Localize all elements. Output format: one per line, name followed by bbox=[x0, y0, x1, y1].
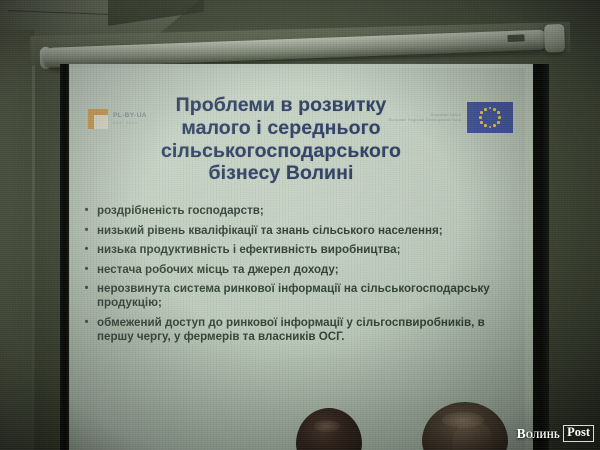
eu-star-icon bbox=[479, 116, 482, 119]
bullet-item: •низька продуктивність і ефективність ви… bbox=[82, 243, 517, 257]
slide-title: Проблеми в розвитку малого і середнього … bbox=[116, 94, 446, 185]
bullet-text: обмежений доступ до ринкової інформації … bbox=[97, 316, 517, 344]
eu-star-icon bbox=[480, 111, 483, 114]
bullet-item: •низький рівень кваліфікації та знань сі… bbox=[82, 224, 517, 238]
wall-corner-edge bbox=[32, 36, 35, 450]
bullet-marker-icon: • bbox=[82, 263, 91, 277]
bullet-text: низька продуктивність і ефективність вир… bbox=[97, 243, 517, 257]
watermark-brand: Волинь bbox=[517, 426, 560, 442]
bullet-marker-icon: • bbox=[82, 224, 91, 238]
eu-star-icon bbox=[480, 121, 483, 124]
eu-star-icon bbox=[493, 108, 496, 111]
eu-star-icon bbox=[484, 108, 487, 111]
screen-border-right bbox=[533, 64, 549, 450]
bullet-text: роздрібненість господарств; bbox=[97, 204, 517, 218]
bullet-item: •роздрібненість господарств; bbox=[82, 204, 517, 218]
photograph-frame: PL-BY-UA 2007 2013 European Union Europe… bbox=[0, 0, 600, 450]
eu-star-icon bbox=[493, 124, 496, 127]
bullet-item: •нестача робочих місць та джерел доходу; bbox=[82, 263, 517, 277]
slide-title-line-4: бізнесу Волині bbox=[116, 162, 446, 185]
eu-flag-icon bbox=[467, 102, 513, 133]
slide-title-line-1: Проблеми в розвитку bbox=[116, 94, 446, 117]
pl-by-ua-mark-icon bbox=[88, 109, 108, 129]
hair-highlight bbox=[314, 420, 340, 432]
bullet-marker-icon: • bbox=[82, 316, 91, 344]
eu-star-icon bbox=[484, 124, 487, 127]
bullet-text: нерозвинута система ринкової інформації … bbox=[97, 282, 517, 310]
watermark-suffix: Post bbox=[563, 425, 594, 442]
bullet-marker-icon: • bbox=[82, 282, 91, 310]
roller-brand-label bbox=[507, 34, 524, 42]
eu-star-icon bbox=[497, 121, 500, 124]
slide-title-line-2: малого і середнього bbox=[116, 117, 446, 140]
eu-star-icon bbox=[497, 111, 500, 114]
left-wall-panel bbox=[0, 30, 34, 450]
eu-star-icon bbox=[498, 116, 501, 119]
bullet-item: •обмежений доступ до ринкової інформації… bbox=[82, 316, 517, 344]
roller-right-end-cap bbox=[544, 24, 565, 53]
bullet-text: нестача робочих місць та джерел доходу; bbox=[97, 263, 517, 277]
slide-title-line-3: сільськогосподарського bbox=[116, 140, 446, 163]
eu-star-icon bbox=[489, 107, 492, 110]
watermark: Волинь Post bbox=[517, 425, 594, 442]
bullet-marker-icon: • bbox=[82, 204, 91, 218]
screen-border-left bbox=[60, 64, 69, 450]
projected-slide: PL-BY-UA 2007 2013 European Union Europe… bbox=[70, 68, 525, 450]
slide-bullet-list: •роздрібненість господарств;•низький рів… bbox=[82, 204, 517, 349]
bullet-text: низький рівень кваліфікації та знань сіл… bbox=[97, 224, 517, 238]
bullet-marker-icon: • bbox=[82, 243, 91, 257]
bullet-item: •нерозвинута система ринкової інформації… bbox=[82, 282, 517, 310]
eu-star-icon bbox=[489, 126, 492, 129]
